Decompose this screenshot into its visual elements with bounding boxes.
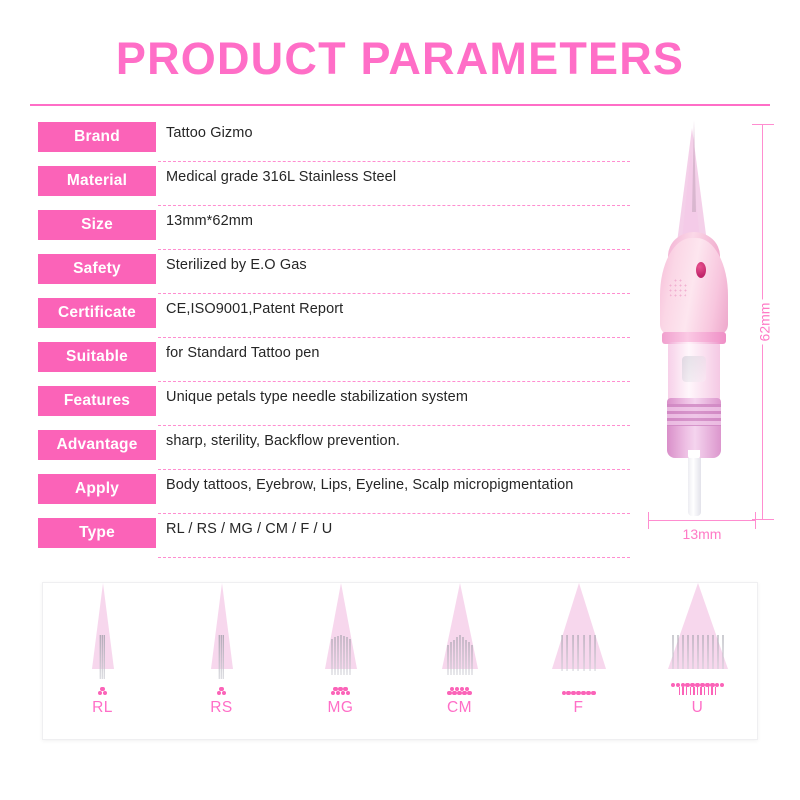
- dimension-height: 62mm: [750, 124, 780, 520]
- needle-pin: [462, 637, 463, 675]
- needle-pin: [578, 635, 579, 671]
- needle-pin: [677, 635, 678, 669]
- cartridge-clear-barrel: [668, 342, 720, 404]
- needle-pin: [697, 635, 698, 669]
- needle-pin: [712, 635, 713, 669]
- product-cartridge-image: [648, 120, 744, 520]
- needle-pin: [456, 637, 457, 675]
- table-row: Size 13mm*62mm: [38, 206, 630, 250]
- page-title: PRODUCT PARAMETERS: [0, 34, 800, 84]
- needle-pin: [567, 635, 568, 671]
- needle-types-panel: RLRSMGCMFU: [42, 582, 758, 740]
- page-title-container: PRODUCT PARAMETERS: [0, 34, 800, 84]
- cartridge-stem: [688, 458, 701, 516]
- needle-pin: [702, 635, 703, 669]
- needle-pin: [343, 636, 344, 675]
- param-label-brand: Brand: [38, 122, 156, 152]
- param-value-size: 13mm*62mm: [166, 213, 253, 229]
- needle-pin: [722, 635, 723, 669]
- needle-type-rs: RS: [162, 583, 281, 739]
- needle-pin: [465, 640, 466, 675]
- needle-pin: [468, 642, 469, 675]
- needle-pins: [330, 635, 351, 675]
- needle-pin: [223, 635, 224, 679]
- param-label-advantage: Advantage: [38, 430, 156, 460]
- needle-pin: [459, 635, 460, 675]
- param-value-certificate: CE,ISO9001,Patent Report: [166, 301, 343, 317]
- needle-configuration-icon: [331, 679, 351, 695]
- table-row: Features Unique petals type needle stabi…: [38, 382, 630, 426]
- needle-type-label: CM: [447, 699, 472, 717]
- cartridge-vent-holes: [668, 278, 688, 300]
- needle-pin: [471, 645, 472, 675]
- param-label-size: Size: [38, 210, 156, 240]
- table-row: Safety Sterilized by E.O Gas: [38, 250, 630, 294]
- table-row: Type RL / RS / MG / CM / F / U: [38, 514, 630, 558]
- needle-pin: [682, 635, 683, 669]
- needle-pin: [221, 635, 222, 679]
- table-row: Certificate CE,ISO9001,Patent Report: [38, 294, 630, 338]
- table-row: Brand Tattoo Gizmo: [38, 118, 630, 162]
- needle-types-row: RLRSMGCMFU: [43, 583, 757, 739]
- needle-pin: [707, 635, 708, 669]
- dimension-width-label: 13mm: [648, 526, 756, 542]
- table-row: Suitable for Standard Tattoo pen: [38, 338, 630, 382]
- needle-configuration-icon: [217, 679, 227, 695]
- needle-point-icon: [692, 120, 696, 212]
- needle-pin: [453, 640, 454, 675]
- needle-type-mg: MG: [281, 583, 400, 739]
- needle-pin: [572, 635, 573, 671]
- product-parameters-page: PRODUCT PARAMETERS Brand Tattoo Gizmo Ma…: [0, 0, 800, 800]
- param-value-suitable: for Standard Tattoo pen: [166, 345, 320, 361]
- needle-pin: [104, 635, 105, 679]
- needle-pin: [102, 635, 103, 679]
- needle-pin: [717, 635, 718, 669]
- cartridge-indicator-dot: [696, 262, 706, 278]
- needle-pin: [447, 645, 448, 675]
- needle-illustration: [519, 583, 638, 679]
- needle-pin: [219, 635, 220, 679]
- needle-configuration-icon: [98, 679, 108, 695]
- dimension-width-line: [648, 520, 756, 521]
- param-label-safety: Safety: [38, 254, 156, 284]
- needle-illustration: [400, 583, 519, 679]
- param-label-apply: Apply: [38, 474, 156, 504]
- table-row: Material Medical grade 316L Stainless St…: [38, 162, 630, 206]
- table-row: Advantage sharp, sterility, Backflow pre…: [38, 426, 630, 470]
- param-label-material: Material: [38, 166, 156, 196]
- needle-illustration: [162, 583, 281, 679]
- needle-pin: [672, 635, 673, 669]
- needle-illustration: [281, 583, 400, 679]
- needle-type-label: F: [574, 699, 584, 717]
- needle-type-u: U: [638, 583, 757, 739]
- needle-illustration: [43, 583, 162, 679]
- needle-pin: [334, 637, 335, 675]
- needle-pin: [100, 635, 101, 679]
- parameters-table: Brand Tattoo Gizmo Material Medical grad…: [38, 118, 630, 558]
- needle-pins: [99, 635, 106, 679]
- needle-type-label: RS: [210, 699, 233, 717]
- dimension-height-label: 62mm: [754, 300, 774, 345]
- row-separator: [158, 557, 630, 558]
- param-label-certificate: Certificate: [38, 298, 156, 328]
- needle-configuration-icon: [447, 679, 472, 695]
- needle-pin: [692, 635, 693, 669]
- param-value-material: Medical grade 316L Stainless Steel: [166, 169, 396, 185]
- needle-type-cm: CM: [400, 583, 519, 739]
- needle-pin: [337, 636, 338, 675]
- param-value-brand: Tattoo Gizmo: [166, 125, 253, 141]
- needle-pin: [589, 635, 590, 671]
- needle-pin: [687, 635, 688, 669]
- needle-pin: [595, 635, 596, 671]
- needle-pins: [446, 635, 473, 675]
- param-value-apply: Body tattoos, Eyebrow, Lips, Eyeline, Sc…: [166, 477, 573, 493]
- needle-pin: [346, 637, 347, 675]
- needle-pins: [670, 635, 725, 669]
- needle-type-label: U: [692, 699, 704, 717]
- param-value-safety: Sterilized by E.O Gas: [166, 257, 307, 273]
- param-label-features: Features: [38, 386, 156, 416]
- needle-pin: [584, 635, 585, 671]
- param-label-suitable: Suitable: [38, 342, 156, 372]
- needle-configuration-icon: [561, 679, 596, 695]
- title-divider: [30, 104, 770, 106]
- table-row: Apply Body tattoos, Eyebrow, Lips, Eyeli…: [38, 470, 630, 514]
- dimension-width: 13mm: [648, 512, 756, 546]
- param-label-type: Type: [38, 518, 156, 548]
- needle-type-label: MG: [328, 699, 354, 717]
- needle-pin: [340, 635, 341, 675]
- needle-pin: [450, 642, 451, 675]
- needle-configuration-icon: [670, 679, 725, 695]
- needle-pin: [349, 639, 350, 675]
- needle-type-label: RL: [92, 699, 113, 717]
- needle-pin: [331, 639, 332, 675]
- needle-pin: [561, 635, 562, 671]
- param-value-advantage: sharp, sterility, Backflow prevention.: [166, 433, 400, 449]
- param-value-type: RL / RS / MG / CM / F / U: [166, 521, 332, 537]
- needle-type-f: F: [519, 583, 638, 739]
- needle-type-rl: RL: [43, 583, 162, 739]
- param-value-features: Unique petals type needle stabilization …: [166, 389, 468, 405]
- needle-pins: [218, 635, 225, 679]
- needle-illustration: [638, 583, 757, 679]
- needle-pins: [559, 635, 598, 671]
- cartridge-barrel-rings: [667, 404, 721, 426]
